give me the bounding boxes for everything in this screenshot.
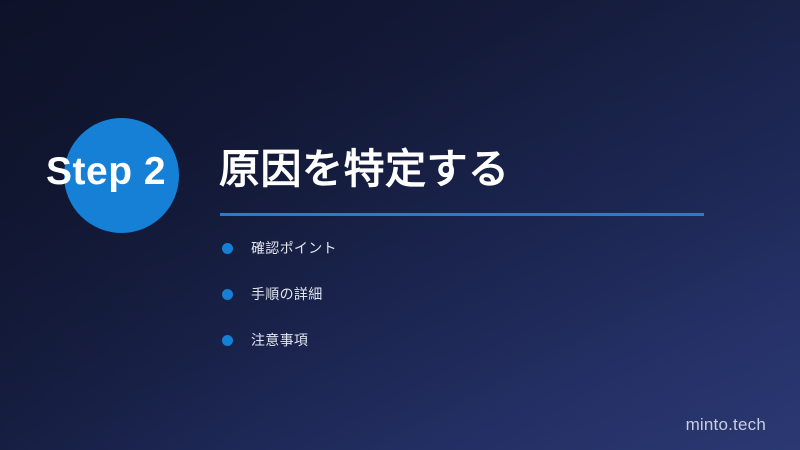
bullet-dot-icon bbox=[222, 243, 233, 254]
footer-brand-label: minto.tech bbox=[686, 416, 766, 433]
bullet-dot-icon bbox=[222, 335, 233, 346]
list-item-label: 手順の詳細 bbox=[251, 287, 323, 301]
list-item: 手順の詳細 bbox=[222, 282, 337, 306]
presentation-slide: Step 2 原因を特定する 確認ポイント 手順の詳細 注意事項 minto.t… bbox=[0, 0, 800, 450]
title-divider-line bbox=[220, 213, 704, 216]
list-item: 注意事項 bbox=[222, 328, 337, 352]
slide-title: 原因を特定する bbox=[219, 148, 510, 191]
step-number-label: Step 2 bbox=[46, 152, 166, 191]
bullet-dot-icon bbox=[222, 289, 233, 300]
list-item-label: 注意事項 bbox=[251, 333, 308, 347]
list-item-label: 確認ポイント bbox=[251, 241, 337, 255]
bullet-list: 確認ポイント 手順の詳細 注意事項 bbox=[222, 236, 337, 352]
list-item: 確認ポイント bbox=[222, 236, 337, 260]
